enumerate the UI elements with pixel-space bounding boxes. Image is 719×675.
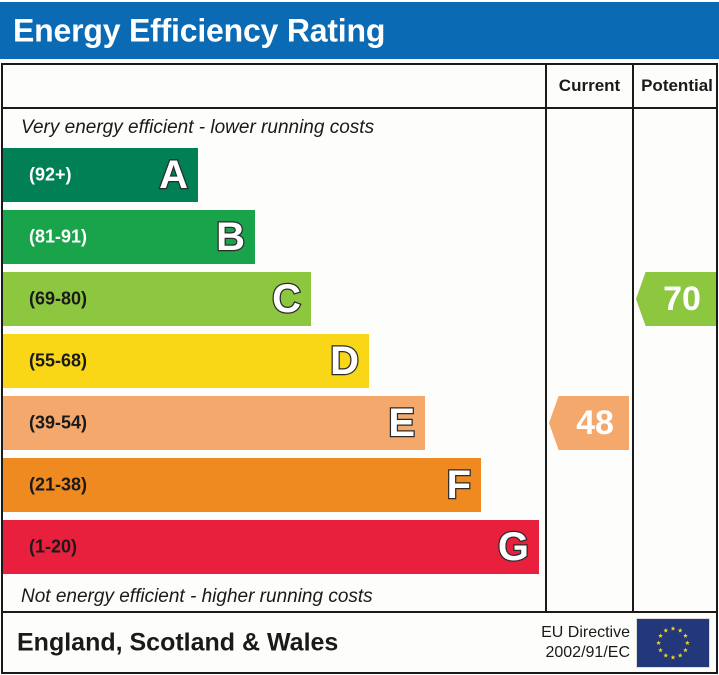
band-range-g: (1-20) — [29, 537, 77, 558]
band-letter-f: F — [447, 465, 471, 505]
band-range-d: (55-68) — [29, 351, 87, 372]
eu-flag-stars-icon — [637, 619, 709, 667]
header-divider — [3, 107, 716, 109]
band-range-e: (39-54) — [29, 413, 87, 434]
rating-value-potential: 70 — [636, 282, 716, 316]
region-label: England, Scotland & Wales — [17, 628, 338, 657]
column-divider-current — [545, 65, 547, 611]
band-range-f: (21-38) — [29, 475, 87, 496]
band-list: (92+)A(81-91)B(69-80)C(55-68)D(39-54)E(2… — [3, 145, 543, 580]
band-range-c: (69-80) — [29, 289, 87, 310]
band-letter-a: A — [159, 155, 188, 195]
caption-top: Very energy efficient - lower running co… — [21, 111, 374, 145]
rating-marker-potential: 70 — [636, 272, 716, 326]
rating-table: Current Potential Very energy efficient … — [1, 63, 718, 613]
rating-value-current: 48 — [549, 406, 629, 440]
column-divider-potential — [632, 65, 634, 611]
band-range-a: (92+) — [29, 165, 72, 186]
eu-directive-line-1: EU Directive — [541, 623, 630, 643]
chart-title-bar: Energy Efficiency Rating — [0, 2, 719, 59]
band-letter-b: B — [216, 217, 245, 257]
eu-directive-label: EU Directive 2002/91/EC — [541, 623, 630, 663]
eu-directive-line-2: 2002/91/EC — [541, 643, 630, 663]
energy-efficiency-rating-chart: Energy Efficiency Rating Current Potenti… — [0, 0, 719, 675]
band-letter-c: C — [272, 279, 301, 319]
eu-flag-icon — [636, 618, 710, 668]
chart-footer: England, Scotland & Wales EU Directive 2… — [1, 613, 718, 674]
band-letter-g: G — [498, 527, 529, 567]
rating-marker-current: 48 — [549, 396, 629, 450]
band-row-a: (92+)A — [3, 148, 198, 202]
caption-bottom: Not energy efficient - higher running co… — [21, 580, 373, 613]
band-row-c: (69-80)C — [3, 272, 311, 326]
column-header-potential: Potential — [634, 65, 719, 107]
band-row-b: (81-91)B — [3, 210, 255, 264]
band-row-d: (55-68)D — [3, 334, 369, 388]
band-range-b: (81-91) — [29, 227, 87, 248]
band-letter-d: D — [330, 341, 359, 381]
band-row-f: (21-38)F — [3, 458, 481, 512]
band-letter-e: E — [388, 403, 415, 443]
band-row-e: (39-54)E — [3, 396, 425, 450]
column-header-current: Current — [547, 65, 632, 107]
page-title: Energy Efficiency Rating — [13, 12, 385, 49]
band-row-g: (1-20)G — [3, 520, 539, 574]
